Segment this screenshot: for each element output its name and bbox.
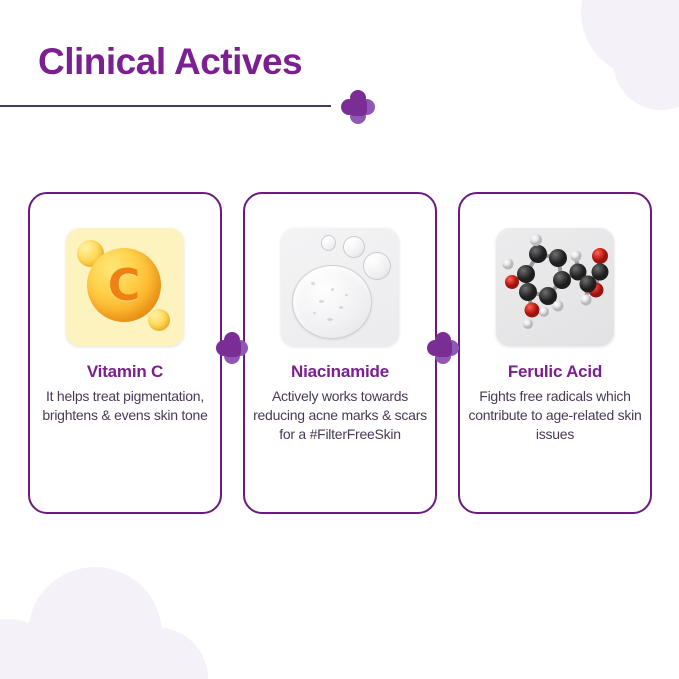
header: Clinical Actives [0,40,679,124]
card-title: Niacinamide [291,362,389,382]
gel-droplet-large [292,265,372,339]
actives-card-row: C Vitamin C It helps treat pigmentation,… [28,192,652,514]
active-card-vitamin-c[interactable]: C Vitamin C It helps treat pigmentation,… [28,192,222,514]
card-description: It helps treat pigmentation, brightens &… [30,387,220,425]
gel-droplet-small-2 [343,236,365,258]
card-description: Actively works towards reducing acne mar… [245,387,435,444]
connector-plus-icon-2 [427,332,459,364]
title-underline-row [0,84,679,124]
blob-bottom-left-2 [0,619,62,679]
ferulic-acid-molecule-image [496,228,614,346]
card-description: Fights free radicals which contribute to… [460,387,650,444]
blob-bottom-left-3 [104,627,208,679]
vitamin-c-letter: C [87,248,161,322]
gel-droplet-small-3 [363,252,391,280]
blob-bottom-left-1 [28,567,162,679]
plus-clover-icon [341,90,375,124]
card-title: Vitamin C [87,362,163,382]
vitamin-c-sphere: C [87,248,161,322]
molecule-diagram [496,228,614,346]
connector-plus-icon-1 [216,332,248,364]
vitamin-c-droplet-small-bottom [148,309,170,331]
gel-droplet-small-1 [321,235,336,251]
title-divider [0,105,331,107]
active-card-ferulic-acid[interactable]: Ferulic Acid Fights free radicals which … [458,192,652,514]
active-card-niacinamide[interactable]: Niacinamide Actively works towards reduc… [243,192,437,514]
vitamin-c-sphere-image: C [66,228,184,346]
page-title: Clinical Actives [0,40,679,84]
niacinamide-gel-droplets-image [281,228,399,346]
card-title: Ferulic Acid [508,362,602,382]
